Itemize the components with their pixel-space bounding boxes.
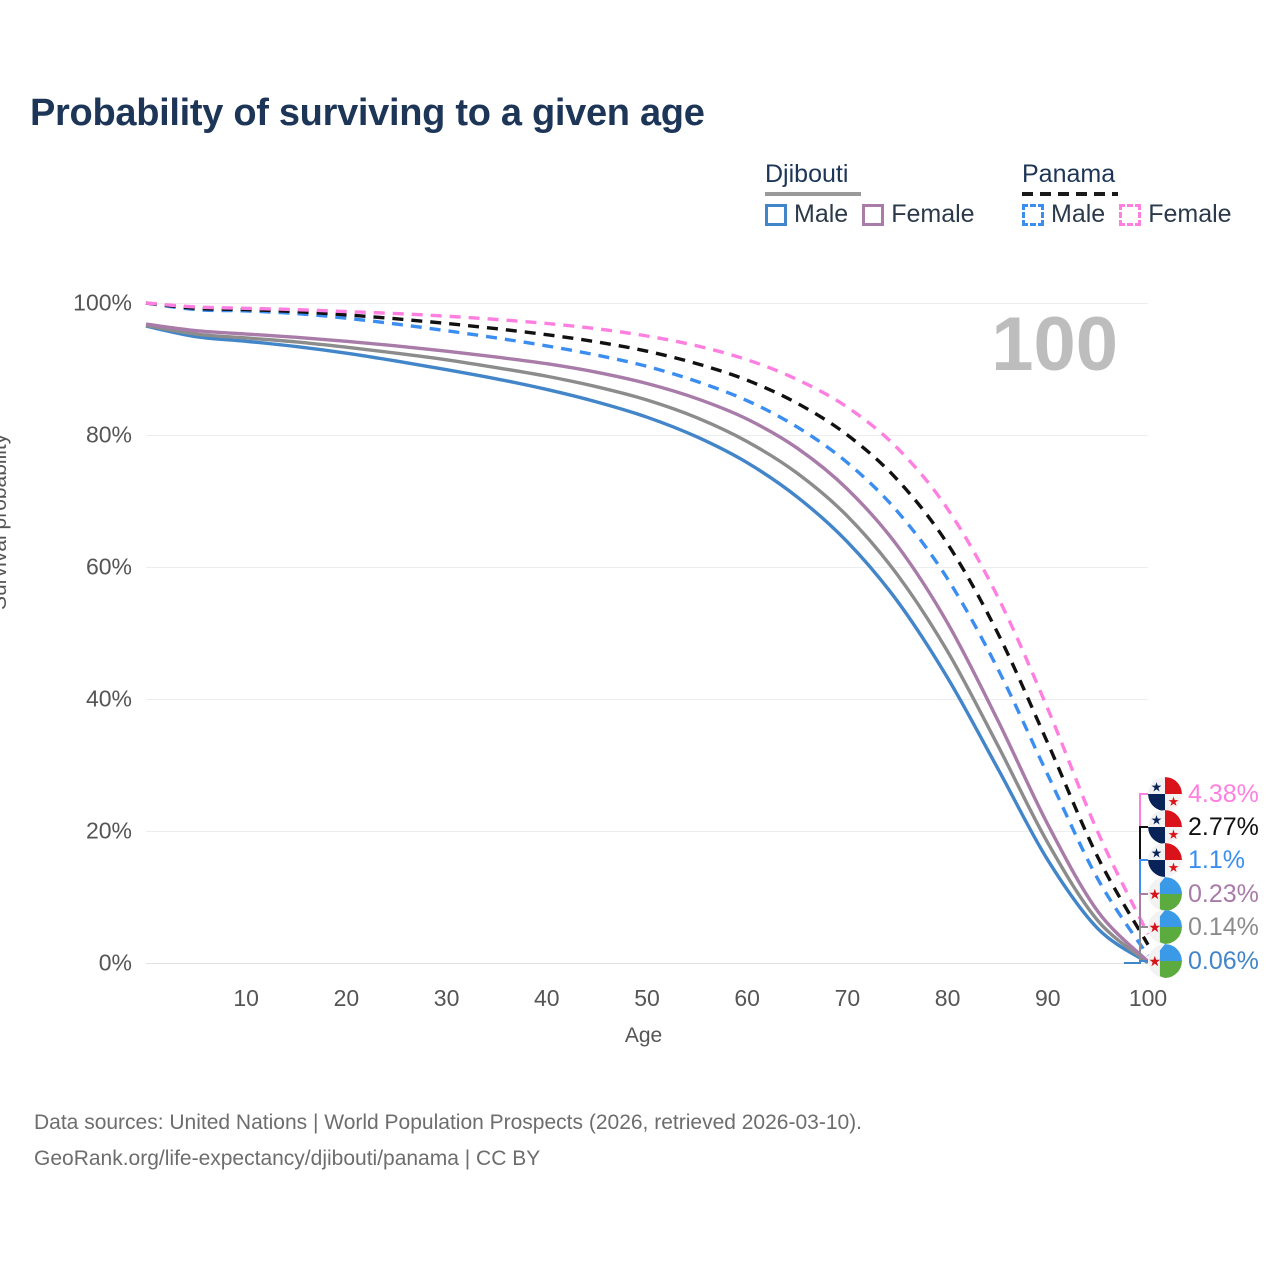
legend-group-panama: Panama Male Female xyxy=(1022,160,1118,196)
square-dashed-outline-icon xyxy=(1119,204,1141,226)
x-axis-tick-label: 10 xyxy=(206,985,286,1012)
square-outline-icon xyxy=(765,204,787,226)
chart-legend: Djibouti Male Female Panama Male xyxy=(760,160,1260,240)
end-label-row[interactable]: 0.06% xyxy=(1148,944,1259,978)
legend-country-rule xyxy=(1022,192,1118,196)
y-axis-tick-label: 100% xyxy=(12,290,132,317)
y-axis-tick-label: 80% xyxy=(12,422,132,449)
footer: Data sources: United Nations | World Pop… xyxy=(34,1105,862,1177)
legend-items-djibouti: Male Female xyxy=(765,200,975,229)
end-label-connector xyxy=(1124,927,1148,963)
footer-line-2: GeoRank.org/life-expectancy/djibouti/pan… xyxy=(34,1141,862,1177)
series-line xyxy=(146,303,1148,934)
x-axis-title: Age xyxy=(0,1024,1280,1048)
page-title: Probability of surviving to a given age xyxy=(30,92,705,135)
legend-item-djibouti-male[interactable]: Male xyxy=(765,200,848,229)
legend-item-djibouti-female[interactable]: Female xyxy=(862,200,974,229)
x-axis-tick-label: 50 xyxy=(607,985,687,1012)
series-line xyxy=(146,324,1148,961)
end-labels: 4.38%2.77%1.1%0.23%0.14%0.06% xyxy=(1140,770,1280,985)
end-label-row[interactable]: 2.77% xyxy=(1148,810,1259,844)
legend-item-panama-male[interactable]: Male xyxy=(1022,200,1105,229)
end-label-row[interactable]: 0.14% xyxy=(1148,910,1259,944)
square-outline-icon xyxy=(862,204,884,226)
x-axis-tick-label: 70 xyxy=(807,985,887,1012)
end-label-row[interactable]: 1.1% xyxy=(1148,843,1245,877)
legend-items-panama: Male Female xyxy=(1022,200,1232,229)
end-label-connector xyxy=(1124,860,1148,963)
end-label-connector xyxy=(1124,961,1148,963)
y-axis-tick-label: 40% xyxy=(12,686,132,713)
end-label-value: 0.14% xyxy=(1188,913,1259,942)
end-label-row[interactable]: 4.38% xyxy=(1148,777,1259,811)
series-line xyxy=(146,325,1148,962)
chart-root: Probability of surviving to a given age … xyxy=(0,0,1280,1280)
legend-item-label: Female xyxy=(1148,200,1231,229)
end-label-connector xyxy=(1124,894,1148,963)
y-axis-title: Survival probability xyxy=(0,434,12,610)
x-axis-tick-label: 40 xyxy=(507,985,587,1012)
end-label-value: 2.77% xyxy=(1188,813,1259,842)
x-axis-tick-label: 60 xyxy=(707,985,787,1012)
x-axis-tick-label: 20 xyxy=(306,985,386,1012)
legend-item-label: Male xyxy=(794,200,848,229)
square-dashed-outline-icon xyxy=(1022,204,1044,226)
gridline xyxy=(146,963,1148,964)
y-axis-tick-label: 20% xyxy=(12,818,132,845)
end-label-row[interactable]: 0.23% xyxy=(1148,877,1259,911)
legend-country-label: Panama xyxy=(1022,160,1118,188)
end-label-value: 1.1% xyxy=(1188,846,1245,875)
end-label-connectors xyxy=(1118,770,1158,985)
legend-item-panama-female[interactable]: Female xyxy=(1119,200,1231,229)
footer-line-1: Data sources: United Nations | World Pop… xyxy=(34,1105,862,1141)
end-label-connector xyxy=(1124,794,1148,963)
y-axis-tick-label: 0% xyxy=(12,950,132,977)
end-label-value: 4.38% xyxy=(1188,780,1259,809)
x-axis-tick-label: 100 xyxy=(1108,985,1188,1012)
series-curves xyxy=(146,303,1148,963)
series-line xyxy=(146,326,1148,963)
end-label-value: 0.06% xyxy=(1188,947,1259,976)
legend-item-label: Female xyxy=(891,200,974,229)
legend-group-djibouti: Djibouti Male Female xyxy=(765,160,861,196)
x-axis-tick-label: 90 xyxy=(1008,985,1088,1012)
y-axis-tick-label: 60% xyxy=(12,554,132,581)
x-axis-tick-label: 30 xyxy=(407,985,487,1012)
legend-country-label: Djibouti xyxy=(765,160,861,188)
x-axis-tick-label: 80 xyxy=(908,985,988,1012)
legend-item-label: Male xyxy=(1051,200,1105,229)
legend-country-rule xyxy=(765,192,861,196)
end-label-value: 0.23% xyxy=(1188,880,1259,909)
